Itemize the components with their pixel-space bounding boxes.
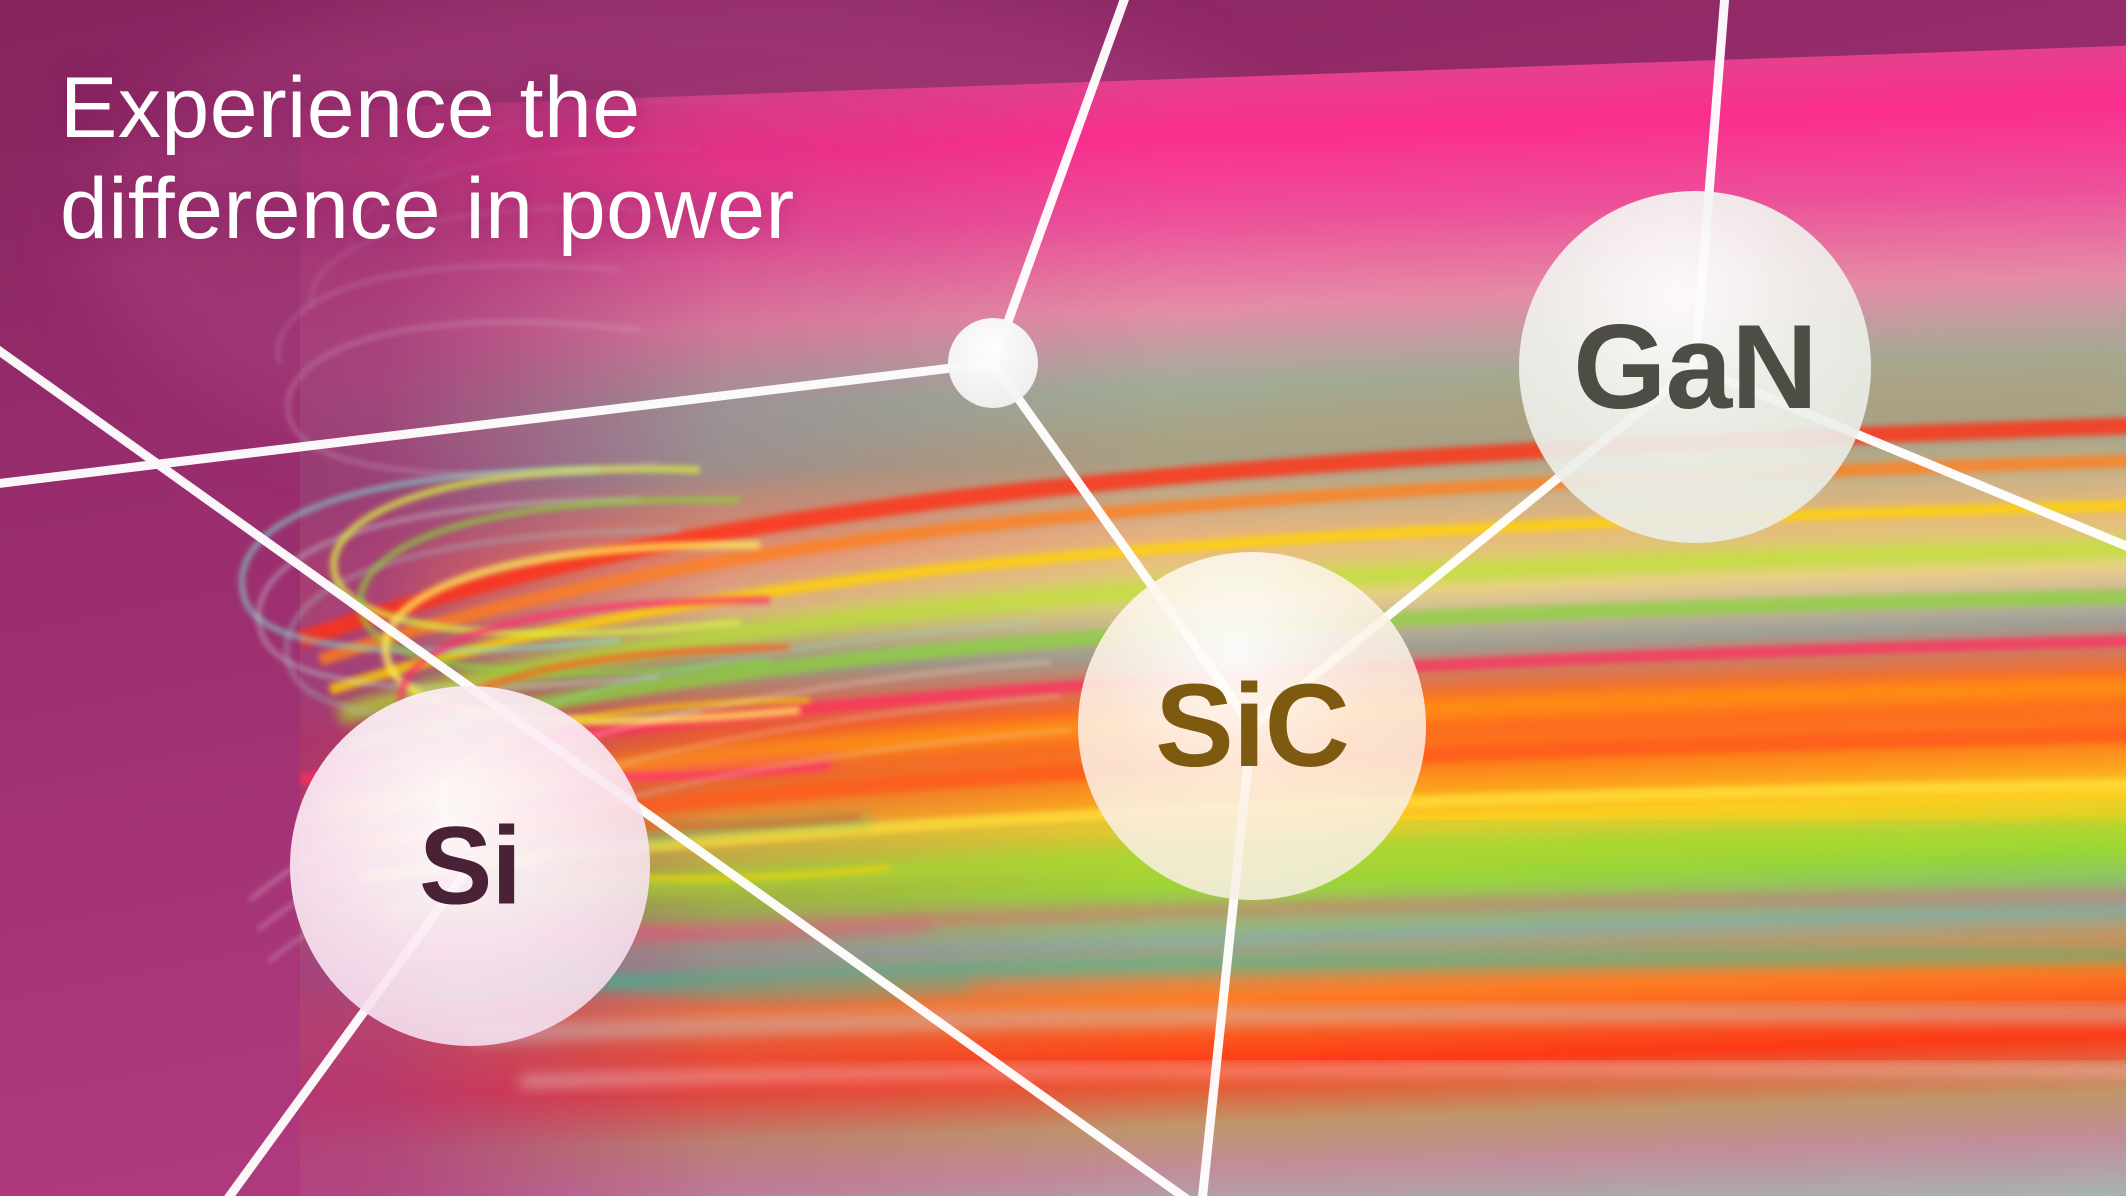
node-label-si[interactable]: Si [419, 803, 521, 930]
banner-graphic: Experience the difference in power Si Si… [0, 0, 2126, 1196]
node-label-gan[interactable]: GaN [1573, 298, 1817, 436]
node-label-sic[interactable]: SiC [1155, 658, 1349, 794]
node-circle-hub[interactable] [948, 318, 1038, 408]
node-circles [0, 0, 2126, 1196]
